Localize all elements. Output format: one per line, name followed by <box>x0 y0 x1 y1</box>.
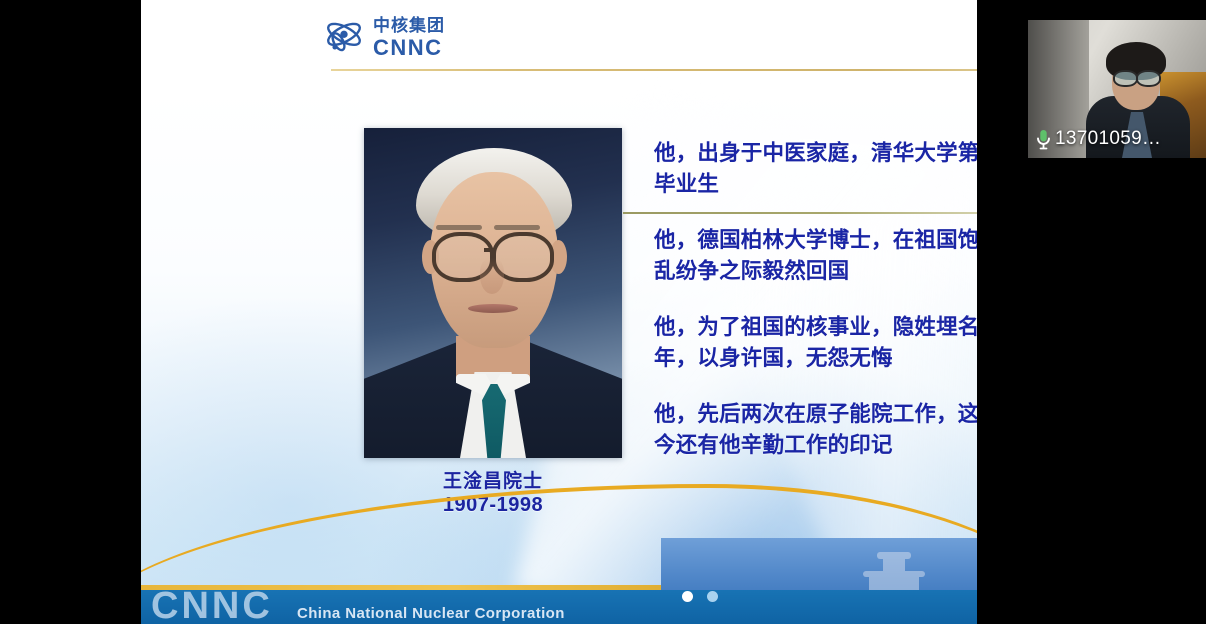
slide-paragraph-3: 他，为了祖国的核事业，隐姓埋名17年，以身许国，无怨无悔 <box>654 313 977 374</box>
cnnc-logo-wordmark: 中核集团 CNNC <box>373 18 445 59</box>
footer-abbr: CNNC <box>151 585 273 624</box>
portrait-caption-name: 王淦昌院士 <box>364 470 622 493</box>
participant-video-tile[interactable]: 13701059… <box>1028 20 1206 158</box>
microphone-icon[interactable] <box>1036 129 1051 150</box>
logo-chinese-name: 中核集团 <box>373 18 445 35</box>
slide-paragraph-4: 他，先后两次在原子能院工作，这里至今还有他辛勤工作的印记 <box>654 400 977 461</box>
slide-indicator-dot-inactive[interactable] <box>707 591 718 602</box>
slide-paragraph-1: 他，出身于中医家庭，清华大学第一届毕业生 <box>654 139 977 200</box>
slide-paragraph-2: 他，德国柏林大学博士，在祖国饱受战乱纷争之际毅然回国 <box>654 226 977 287</box>
participant-name-label: 13701059… <box>1055 128 1161 150</box>
footer-full-name: China National Nuclear Corporation <box>297 605 565 622</box>
portrait-photo <box>364 128 622 458</box>
presentation-stage: 中核集团 CNNC 王淦昌院士 1907-1998 <box>0 0 1206 624</box>
slide-text-column: 他，出身于中医家庭，清华大学第一届毕业生 他，德国柏林大学博士，在祖国饱受战乱纷… <box>654 139 977 461</box>
footer-band: CNNC China National Nuclear Corporation <box>141 590 977 624</box>
shared-slide[interactable]: 中核集团 CNNC 王淦昌院士 1907-1998 <box>141 0 977 624</box>
header-divider <box>331 69 977 71</box>
cnnc-atom-logo-icon <box>322 16 366 60</box>
logo-english-abbr: CNNC <box>373 37 445 59</box>
portrait-caption-years: 1907-1998 <box>364 493 622 517</box>
slide-indicator-dot-active[interactable] <box>682 591 693 602</box>
video-person-glasses-left <box>1113 70 1138 87</box>
participant-name-overlay: 13701059… <box>1036 128 1161 150</box>
portrait-caption: 王淦昌院士 1907-1998 <box>364 470 622 518</box>
video-person-glasses-right <box>1136 70 1161 87</box>
cnnc-logo: 中核集团 CNNC <box>322 16 445 60</box>
